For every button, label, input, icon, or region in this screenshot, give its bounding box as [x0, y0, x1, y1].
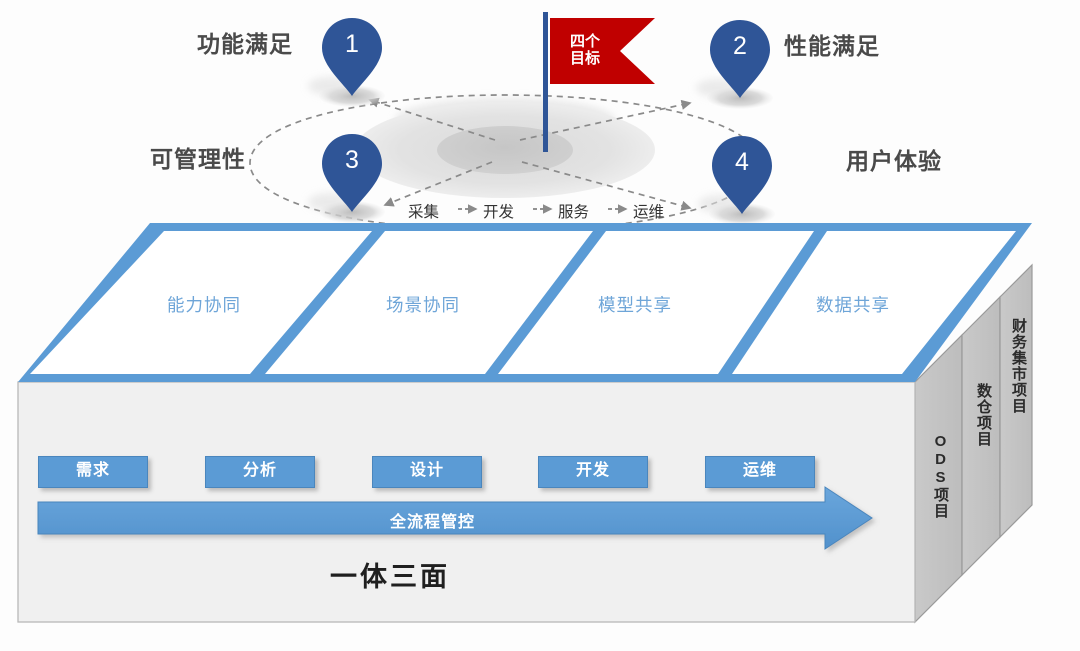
stage-button-2[interactable]: 分析	[205, 456, 315, 488]
flag-label-line2: 目标	[570, 50, 600, 67]
top-panel-label-4[interactable]: 数据共享	[816, 292, 890, 317]
top-panel-label-2[interactable]: 场景协同	[386, 292, 460, 317]
stage-button-4[interactable]: 开发	[538, 456, 648, 488]
goal-label-4: 用户体验	[846, 142, 942, 176]
lifecycle-step-1: 采集	[408, 200, 439, 222]
pin-number-3: 3	[332, 146, 372, 175]
stage-button-1[interactable]: 需求	[38, 456, 148, 488]
stage-button-5[interactable]: 运维	[705, 456, 815, 488]
pin-number-1: 1	[332, 30, 372, 59]
side-label-finance: 财务集市项目	[1008, 318, 1029, 414]
flag-label-line1: 四个	[570, 33, 600, 50]
diagram-vector-layer	[0, 0, 1080, 651]
goal-label-1: 功能满足	[197, 25, 293, 59]
process-arrow-label: 全流程管控	[390, 508, 475, 532]
goal-label-3: 可管理性	[150, 140, 246, 174]
top-panel-label-3[interactable]: 模型共享	[598, 292, 672, 317]
side-label-dw: 数仓项目	[973, 383, 994, 447]
flag-label: 四个 目标	[562, 33, 608, 67]
base-title: 一体三面	[330, 555, 450, 594]
pin-number-2: 2	[720, 32, 760, 61]
lifecycle-step-4: 运维	[633, 200, 664, 222]
pin-number-4: 4	[722, 148, 762, 177]
lifecycle-step-3: 服务	[558, 200, 589, 222]
diagram-canvas: 四个 目标 1 2 3 4 功能满足 性能满足 可管理性 用户体验 采集 开发 …	[0, 0, 1080, 651]
stage-button-3[interactable]: 设计	[372, 456, 482, 488]
goal-label-2: 性能满足	[784, 27, 880, 61]
lifecycle-step-2: 开发	[483, 200, 514, 222]
flag-pole	[543, 12, 548, 152]
side-label-ods: ODS项目	[930, 433, 951, 519]
top-panel-label-1[interactable]: 能力协同	[167, 292, 241, 317]
